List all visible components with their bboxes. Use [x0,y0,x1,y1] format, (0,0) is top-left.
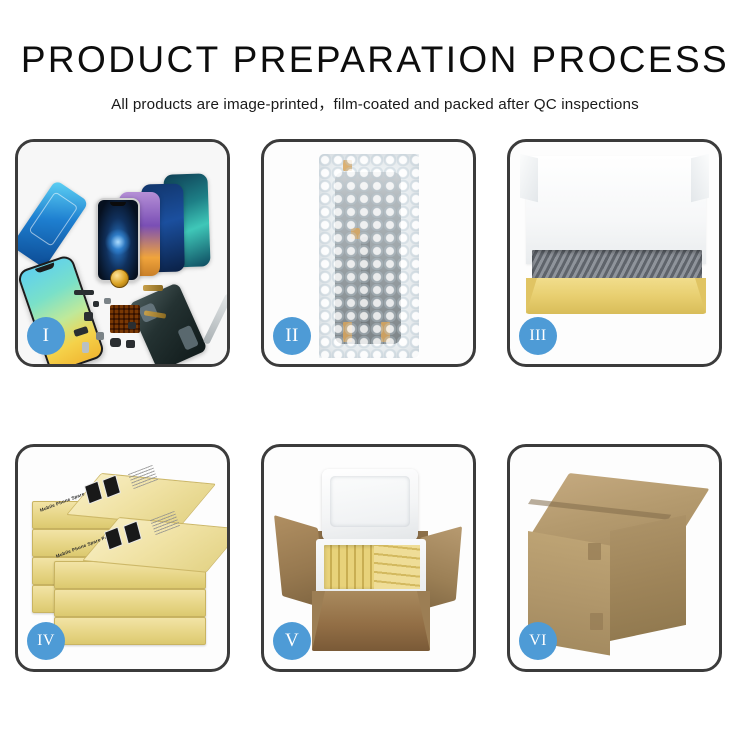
box-lid-flap-left-icon [520,154,538,202]
styrofoam-lid-icon [322,469,418,541]
carton-front-panel-icon [312,591,430,651]
spare-part-icon [104,298,111,304]
process-step-2-bubble-wrapped-screen[interactable]: II [261,139,476,367]
process-step-3-open-inner-box[interactable]: III [507,139,722,367]
spare-part-icon [82,342,89,353]
process-step-5-carton-with-foam-cooler[interactable]: V [261,444,476,672]
process-step-4-stacked-inner-boxes[interactable]: Mobile Phone Spare Parts Mobile Phone Sp… [15,444,230,672]
page-header: PRODUCT PREPARATION PROCESS All products… [0,0,750,114]
carton-tape-icon [588,543,601,560]
carton-right-face-icon [610,515,686,641]
step-numeral-badge-1: I [27,317,65,355]
spare-part-icon [128,322,136,329]
process-step-1-parts-overview[interactable]: I [15,139,230,367]
flex-cable-icon [143,285,163,291]
chip-array-icon [110,305,140,333]
tape-strip-icon [351,228,360,239]
step-numeral-badge-6: VI [519,622,557,660]
spare-part-icon [93,301,99,307]
lcd-screen-icon [335,172,401,344]
carton-tape-icon [590,613,603,630]
process-row-bottom: Mobile Phone Spare Parts Mobile Phone Sp… [15,444,737,672]
spare-part-icon [110,338,121,347]
spare-part-icon [126,340,135,348]
spare-part-icon [74,290,94,295]
page-title: PRODUCT PREPARATION PROCESS [0,41,750,78]
tape-strip-icon [343,322,352,342]
bubble-wrap-sleeve-icon [319,154,419,358]
step-numeral-badge-3: III [519,317,557,355]
box-yellow-front-icon [526,278,706,314]
spare-part-icon [96,332,104,340]
coil-component-icon [110,269,129,288]
box-lid-flap-right-icon [691,154,709,202]
flex-cable-icon [361,237,370,332]
phone-notch-icon [110,202,126,206]
stacked-box [54,617,206,645]
process-step-6-sealed-carton[interactable]: VI [507,444,722,672]
inner-boxes-icon [374,545,420,589]
page-subtitle: All products are image-printed，film-coat… [0,92,750,114]
tape-strip-icon [343,160,352,171]
step-numeral-badge-2: II [273,317,311,355]
step-numeral-badge-4: IV [27,622,65,660]
tape-strip-icon [381,322,390,342]
stacked-box [54,589,206,617]
box-white-lid-icon [526,156,706,264]
process-step-grid: I II [15,139,737,672]
process-row-top: I II [15,139,737,367]
spare-part-icon [84,312,93,321]
step-numeral-badge-5: V [273,622,311,660]
